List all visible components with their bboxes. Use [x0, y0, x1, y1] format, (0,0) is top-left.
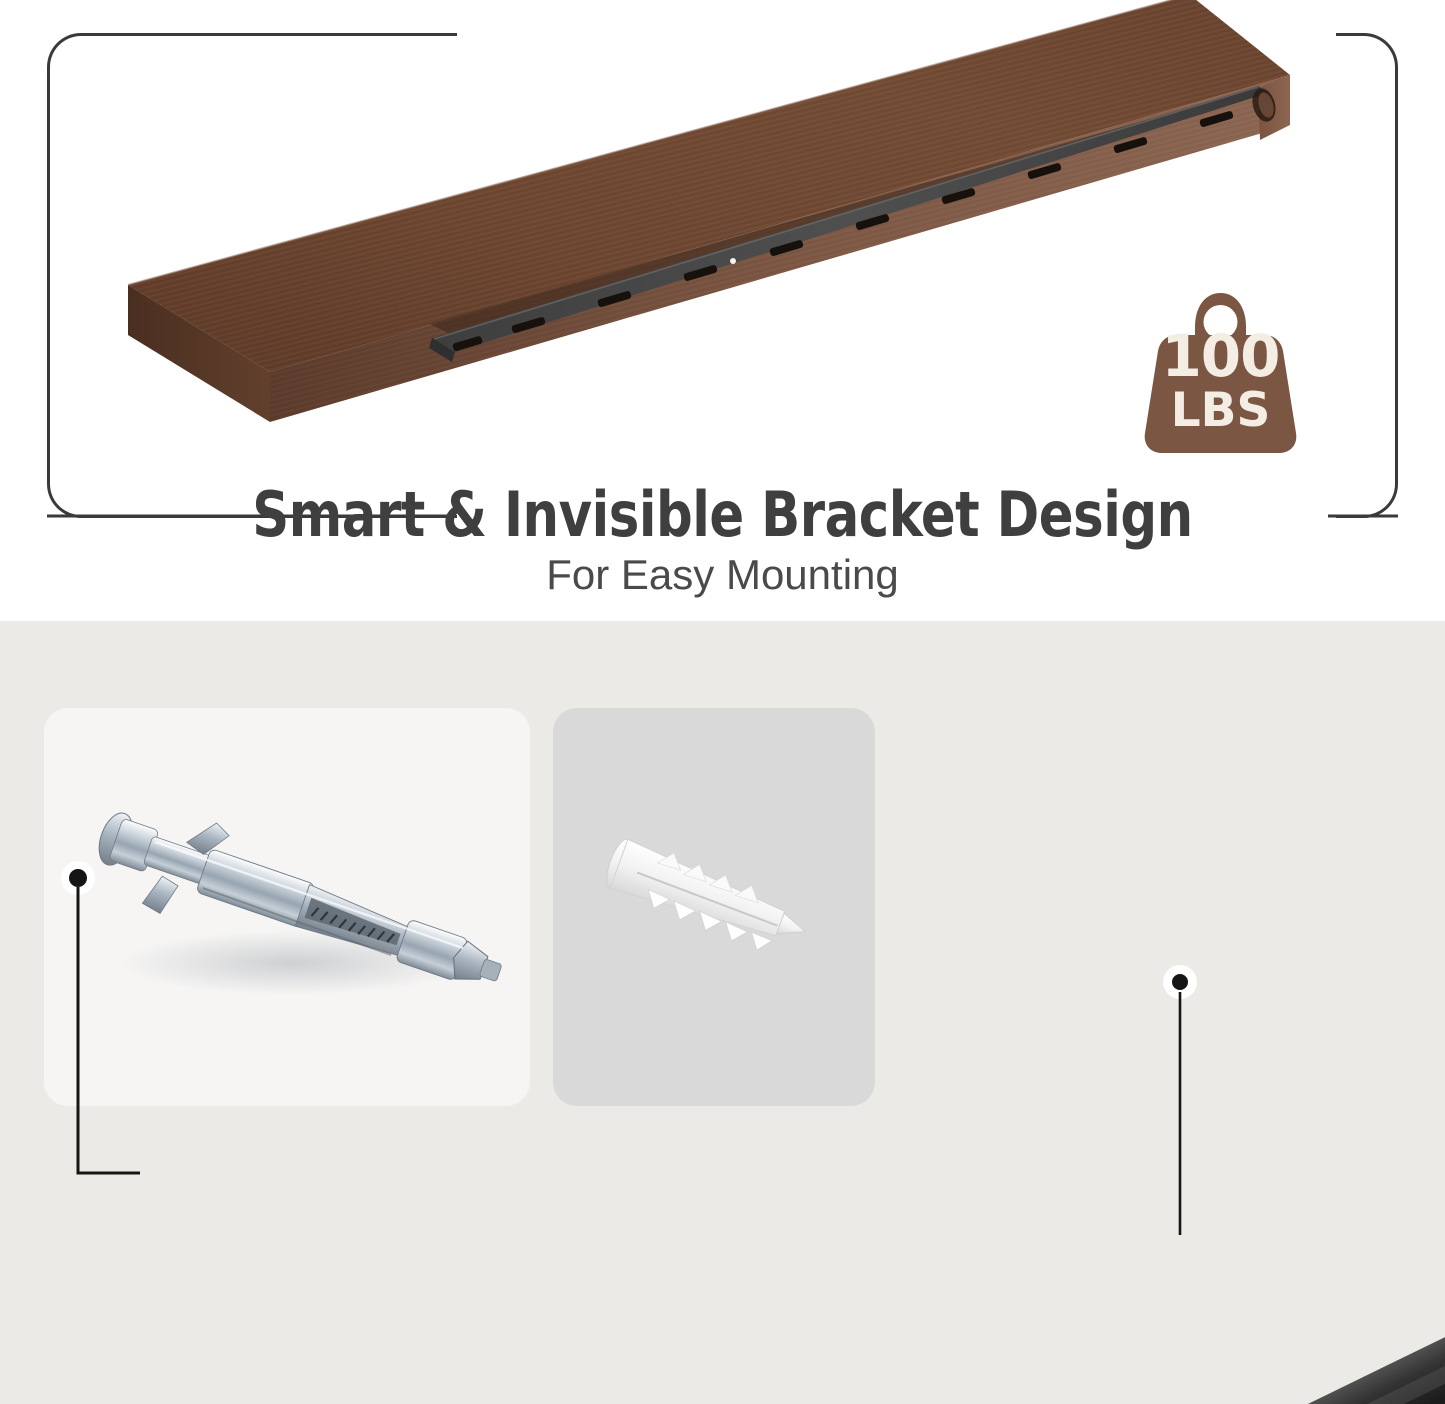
metal-toggle-anchor-image [44, 708, 530, 1106]
page-title: Smart & Invisible Bracket Design [58, 478, 1387, 551]
page-subtitle: For Easy Mounting [0, 551, 1445, 599]
iron-pipe-image [820, 1261, 1445, 1404]
frame-border-right [1336, 33, 1398, 518]
weight-unit: LBS [1133, 387, 1308, 434]
weight-value: 100 [1133, 327, 1308, 385]
bottom-section: Upgrade Metal Anchors heavy-duty Made of… [0, 621, 1445, 1404]
metal-anchor-panel [44, 708, 530, 1106]
plastic-anchor-panel [553, 708, 875, 1106]
top-section: 100 LBS Smart & Invisible Bracket Design… [0, 0, 1445, 621]
weight-capacity-badge: 100 LBS [1133, 283, 1308, 458]
plastic-wall-plug-image [553, 708, 875, 1106]
product-infographic: 100 LBS Smart & Invisible Bracket Design… [0, 0, 1445, 1404]
